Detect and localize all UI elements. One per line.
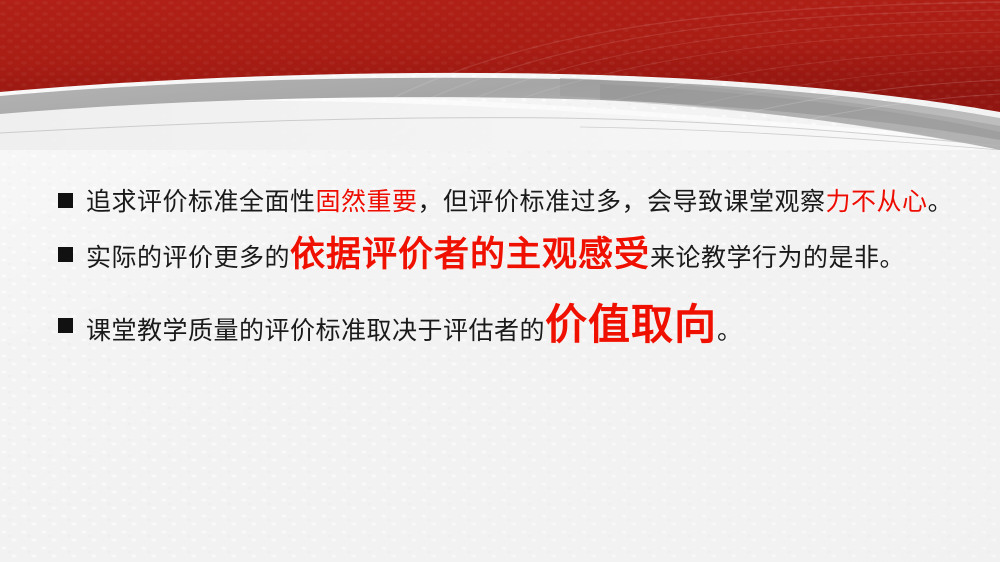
red-wave-banner [0, 0, 1000, 150]
presentation-slide: 追求评价标准全面性固然重要，但评价标准过多，会导致课堂观察力不从心。 实际的评价… [0, 0, 1000, 562]
bullet-marker-icon [58, 247, 73, 262]
bullet-marker-icon [58, 193, 73, 208]
bullet-1-emphasis-1: 固然重要 [316, 189, 418, 216]
bullet-1-emphasis-2: 力不从心 [826, 189, 928, 216]
bullet-2-segment-2: 来论教学行为的是非。 [650, 245, 905, 272]
slide-body: 追求评价标准全面性固然重要，但评价标准过多，会导致课堂观察力不从心。 实际的评价… [0, 150, 1000, 352]
bullet-text-2: 实际的评价更多的依据评价者的主观感受来论教学行为的是非。 [86, 238, 980, 276]
bullet-3-segment-2: 。 [717, 318, 743, 345]
bullet-text-1: 追求评价标准全面性固然重要，但评价标准过多，会导致课堂观察力不从心。 [86, 188, 980, 218]
bullet-1-segment-2: ，但评价标准过多，会导致课堂观察 [418, 189, 826, 216]
bullet-1-segment-3: 。 [928, 189, 954, 216]
bullet-item-1: 追求评价标准全面性固然重要，但评价标准过多，会导致课堂观察力不从心。 [0, 188, 1000, 218]
bullet-1-segment-1: 追求评价标准全面性 [86, 189, 316, 216]
bullet-3-segment-1: 课堂教学质量的评价标准取决于评估者的 [86, 318, 545, 345]
bullet-2-emphasis-1: 依据评价者的主观感受 [290, 235, 650, 274]
bullet-text-3: 课堂教学质量的评价标准取决于评估者的价值取向。 [86, 306, 980, 352]
bullet-marker-icon [58, 318, 73, 333]
bullet-3-emphasis-1: 价值取向 [545, 303, 717, 349]
bullet-item-2: 实际的评价更多的依据评价者的主观感受来论教学行为的是非。 [0, 238, 1000, 276]
bullet-2-segment-1: 实际的评价更多的 [86, 245, 290, 272]
bullet-item-3: 课堂教学质量的评价标准取决于评估者的价值取向。 [0, 306, 1000, 352]
